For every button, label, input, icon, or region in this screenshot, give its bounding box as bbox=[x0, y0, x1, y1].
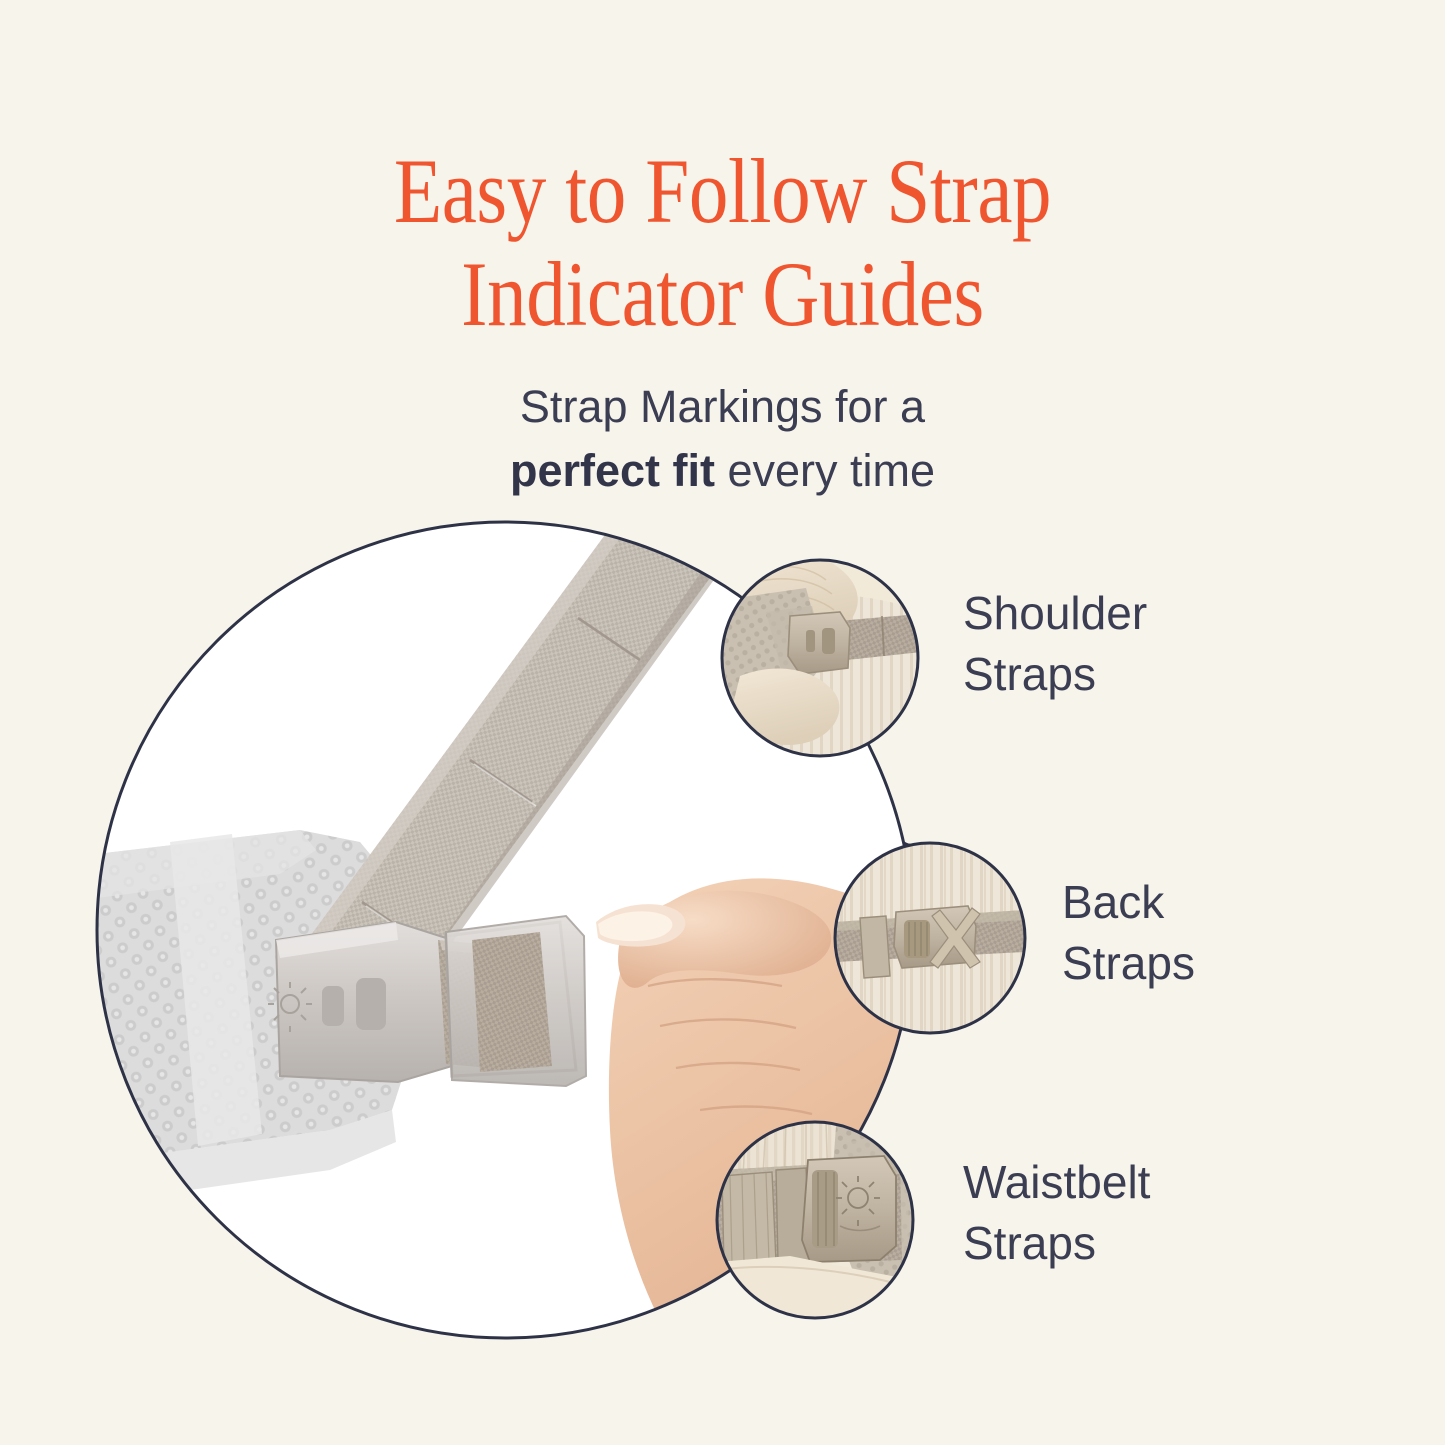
callout-label-back-straps: Back Straps bbox=[1062, 872, 1195, 994]
callout-label-waistbelt-straps: Waistbelt Straps bbox=[963, 1152, 1150, 1274]
infographic-root: Easy to Follow Strap Indicator Guides St… bbox=[0, 0, 1445, 1445]
page-title: Easy to Follow Strap Indicator Guides bbox=[101, 140, 1344, 346]
back-strap-buckle-photo bbox=[835, 843, 1025, 1033]
page-title-line-2: Indicator Guides bbox=[101, 243, 1344, 346]
page-subtitle-line-1: Strap Markings for a bbox=[0, 375, 1445, 439]
shoulder-strap-buckle-photo bbox=[722, 550, 922, 756]
page-title-line-1: Easy to Follow Strap bbox=[101, 140, 1344, 243]
strap-diagram-figure bbox=[0, 470, 1445, 1420]
side-release-buckle bbox=[268, 916, 586, 1086]
callout-label-shoulder-straps: Shoulder Straps bbox=[963, 583, 1147, 705]
waistbelt-strap-buckle-photo bbox=[717, 1122, 913, 1318]
